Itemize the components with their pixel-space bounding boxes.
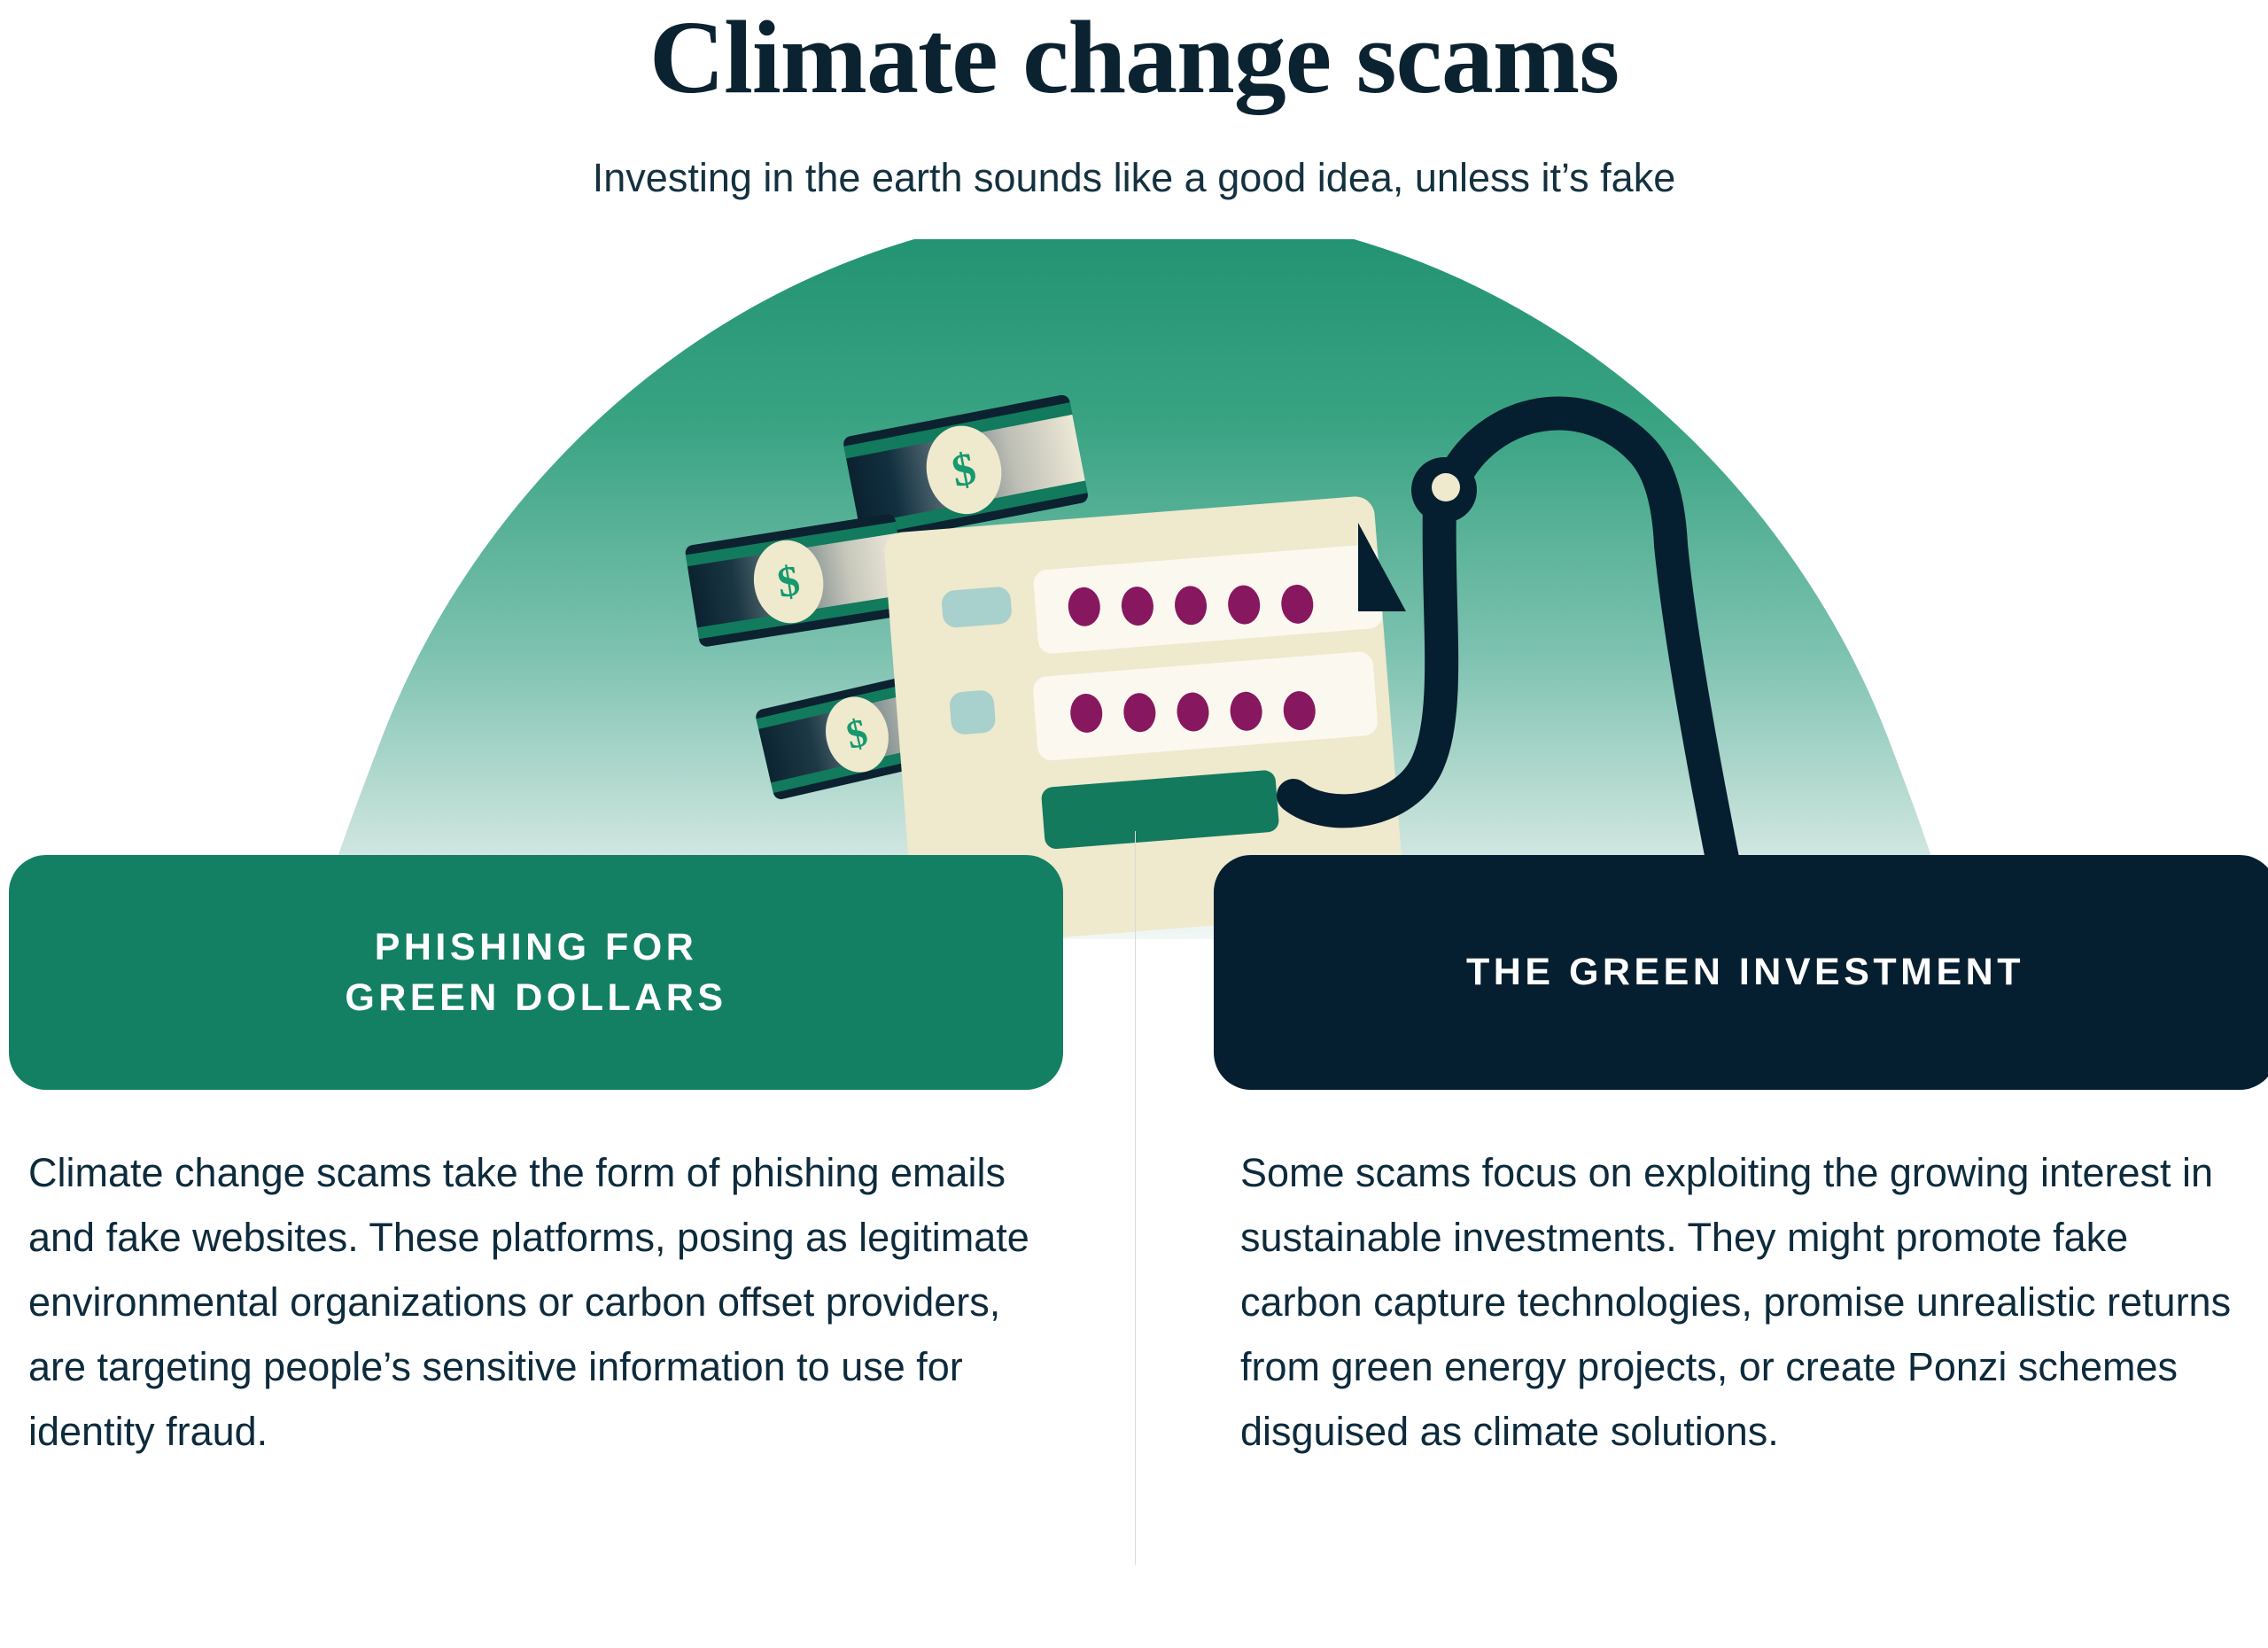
- panel-heading-phishing-line1: PHISHING FOR: [375, 926, 698, 968]
- infographic-page: Climate change scams Investing in the ea…: [0, 0, 2268, 1648]
- panel-body-phishing: Climate change scams take the form of ph…: [28, 1141, 1029, 1464]
- column-divider: [1135, 831, 1136, 1565]
- panel-body-phishing-text: Climate change scams take the form of ph…: [28, 1141, 1029, 1464]
- panel-heading-investment-label: THE GREEN INVESTMENT: [1466, 947, 2024, 998]
- panel-body-investment: Some scams focus on exploiting the growi…: [1240, 1141, 2250, 1464]
- form-label-chip-2: [949, 689, 997, 735]
- panel-heading-phishing-label: PHISHING FOR GREEN DOLLARS: [345, 922, 726, 1023]
- page-title: Climate change scams: [0, 5, 2268, 110]
- panel-heading-investment[interactable]: THE GREEN INVESTMENT: [1214, 855, 2268, 1090]
- panel-heading-phishing[interactable]: PHISHING FOR GREEN DOLLARS: [9, 855, 1063, 1090]
- page-subtitle: Investing in the earth sounds like a goo…: [0, 155, 2268, 201]
- panel-body-investment-text: Some scams focus on exploiting the growi…: [1240, 1141, 2250, 1464]
- hero-illustration: $ $ $: [0, 239, 2268, 939]
- form-label-chip-1: [941, 586, 1013, 628]
- hook-eyelet: [1411, 457, 1477, 523]
- panel-heading-phishing-line2: GREEN DOLLARS: [345, 976, 726, 1019]
